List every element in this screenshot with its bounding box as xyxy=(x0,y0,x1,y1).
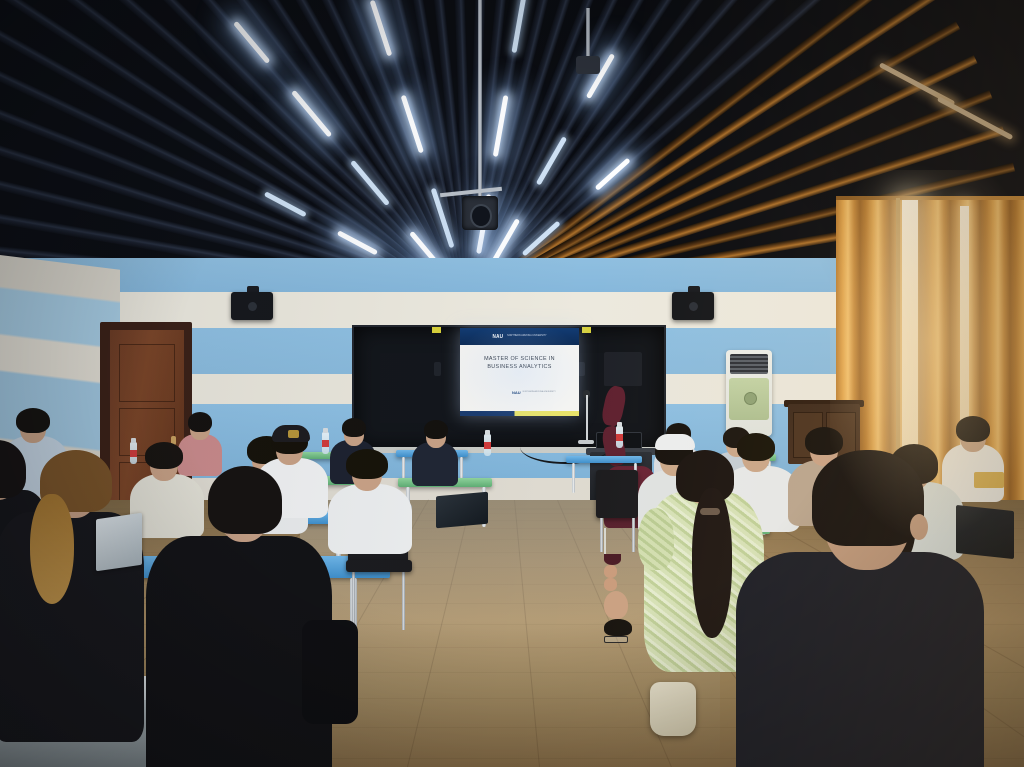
slide-header-band: NAU NORTHERN ARIZONA UNIVERSITY xyxy=(460,328,579,345)
speaker-cone-icon xyxy=(689,302,698,311)
hair xyxy=(208,466,282,534)
hair-tie-icon xyxy=(700,508,720,515)
laptop-screen xyxy=(956,505,1014,559)
chair-leg xyxy=(352,566,355,628)
door-panel-upper xyxy=(119,344,175,402)
hair xyxy=(342,418,366,437)
hair xyxy=(812,450,924,546)
hair xyxy=(424,420,448,439)
torso xyxy=(178,434,222,476)
board-clip-right xyxy=(582,327,591,333)
bottle-cap xyxy=(323,428,328,433)
chair-right xyxy=(596,470,638,518)
presenter-head xyxy=(604,591,628,619)
slide-footer-logo: NAU NORTHERN ARIZONA UNIVERSITY xyxy=(512,390,556,395)
ceiling-mount-pole-rear xyxy=(586,8,590,62)
bottle-label xyxy=(616,434,623,441)
presenter-collar xyxy=(604,554,621,565)
chair-seat xyxy=(346,560,412,572)
presenter-glasses-icon xyxy=(604,636,628,643)
nau-footer-mark: NAU xyxy=(512,390,521,395)
hair xyxy=(737,433,775,461)
chair-leg xyxy=(402,566,405,630)
presenter-left-hand xyxy=(604,565,617,578)
water-bottle xyxy=(484,434,491,456)
cap-emblem-icon xyxy=(288,430,299,438)
handbag xyxy=(650,682,696,736)
desk-top xyxy=(566,456,642,463)
slide-title-line2: BUSINESS ANALYTICS xyxy=(466,363,573,371)
backpack xyxy=(302,620,358,724)
hair xyxy=(145,442,183,469)
nau-logo-mark: NAU xyxy=(493,334,504,340)
presenter-legs xyxy=(604,352,642,386)
nau-org-name: NORTHERN ARIZONA UNIVERSITY xyxy=(507,335,547,338)
water-bottle xyxy=(322,432,329,454)
hair xyxy=(188,412,212,432)
water-bottle xyxy=(616,426,623,448)
torso xyxy=(412,442,458,486)
hair xyxy=(805,427,843,455)
board-speaker-left xyxy=(434,362,441,376)
torso xyxy=(736,552,984,767)
bottle-cap xyxy=(131,438,136,443)
bottle-label xyxy=(484,442,491,449)
hair xyxy=(16,408,50,433)
bottle-label xyxy=(130,450,137,457)
chair-leg xyxy=(600,518,603,552)
nau-footer-name: NORTHERN ARIZONA UNIVERSITY xyxy=(523,391,556,394)
speaker-cone-icon xyxy=(248,302,257,311)
presenter-right-hand xyxy=(604,578,617,591)
air-conditioner-dial-icon[interactable] xyxy=(744,392,757,405)
slide-accent-bar xyxy=(460,411,579,416)
presenter-left-arm xyxy=(600,384,628,427)
chair-leg xyxy=(632,518,635,552)
slide-title-line1: MASTER OF SCIENCE IN xyxy=(466,355,573,363)
laptop-screen xyxy=(96,513,142,571)
desk-leg xyxy=(572,463,575,493)
presenter-hair xyxy=(604,619,632,636)
bottle-label xyxy=(322,440,329,447)
wall-speaker-right xyxy=(672,292,714,320)
slide-title: MASTER OF SCIENCE IN BUSINESS ANALYTICS xyxy=(466,355,573,371)
hair xyxy=(956,416,990,442)
ear xyxy=(910,514,928,540)
board-speaker-right xyxy=(578,362,585,376)
projector-lens-icon xyxy=(470,204,492,228)
ponytail xyxy=(30,494,74,604)
bottle-cap xyxy=(485,430,490,435)
desk-row4-right xyxy=(566,456,642,463)
classroom-photo: NAU NORTHERN ARIZONA UNIVERSITY MASTER O… xyxy=(0,0,1024,767)
projector-mount-pole xyxy=(478,0,482,196)
water-bottle xyxy=(130,442,137,464)
laptop-screen xyxy=(436,492,488,529)
hair xyxy=(346,449,388,479)
wall-speaker-left xyxy=(231,292,273,320)
air-conditioner-grille-icon xyxy=(730,354,768,374)
dress-sleeve-left xyxy=(638,508,674,570)
presenter-lanyard xyxy=(604,528,606,554)
board-clip-left xyxy=(432,327,441,333)
projection-screen: NAU NORTHERN ARIZONA UNIVERSITY MASTER O… xyxy=(460,328,579,416)
shirt-graphic xyxy=(974,472,1004,488)
ceiling-mount-head-rear xyxy=(576,56,600,74)
white-cap-icon xyxy=(655,434,695,450)
torso xyxy=(328,484,412,554)
bottle-cap xyxy=(617,422,622,427)
